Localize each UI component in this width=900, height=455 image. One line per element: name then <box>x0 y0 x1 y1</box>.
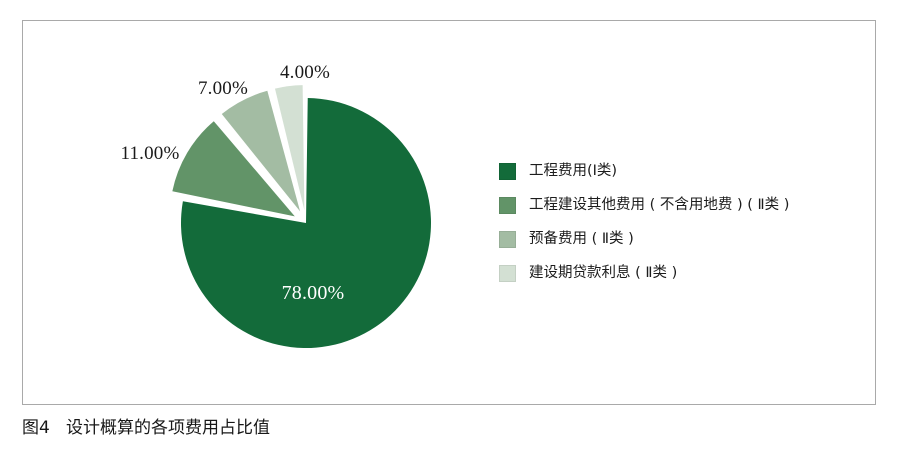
legend-item-3[interactable]: 建设期贷款利息 ( Ⅱ类 ) <box>499 256 867 290</box>
legend-label-0: 工程费用(I类) <box>529 164 617 179</box>
figure-frame: 78.00% 11.00% 7.00% 4.00% 工程费用(I类) 工程建设其… <box>22 20 876 405</box>
legend-swatch-icon-0 <box>499 163 516 180</box>
slice-label-78: 78.00% <box>253 283 373 303</box>
legend-label-3: 建设期贷款利息 ( Ⅱ类 ) <box>529 266 677 281</box>
legend-label-2: 预备费用 ( Ⅱ类 ) <box>529 232 634 247</box>
legend-item-2[interactable]: 预备费用 ( Ⅱ类 ) <box>499 222 867 256</box>
legend-swatch-icon-1 <box>499 197 516 214</box>
pie-slices-group <box>172 85 431 348</box>
slice-label-4: 4.00% <box>255 63 355 82</box>
slice-label-11: 11.00% <box>95 144 205 163</box>
legend-swatch-icon-3 <box>499 265 516 282</box>
legend-item-1[interactable]: 工程建设其他费用 ( 不含用地费 ) ( Ⅱ类 ) <box>499 188 867 222</box>
chart-legend: 工程费用(I类) 工程建设其他费用 ( 不含用地费 ) ( Ⅱ类 ) 预备费用 … <box>499 154 867 290</box>
figure-caption: 图4 设计概算的各项费用占比值 <box>22 418 270 438</box>
pie-chart-area: 78.00% 11.00% 7.00% 4.00% <box>23 21 493 406</box>
legend-item-0[interactable]: 工程费用(I类) <box>499 154 867 188</box>
legend-label-1: 工程建设其他费用 ( 不含用地费 ) ( Ⅱ类 ) <box>529 198 789 213</box>
legend-swatch-icon-2 <box>499 231 516 248</box>
